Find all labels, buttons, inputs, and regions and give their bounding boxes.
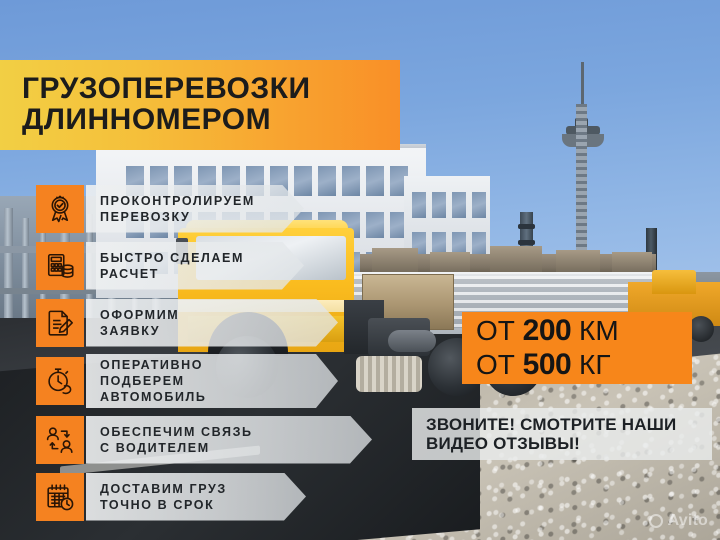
two-people-arrows-icon xyxy=(36,416,84,464)
feature-banner: ОФОРМИМ ЗАЯВКУ xyxy=(86,299,338,347)
feature-item-control-shipment: ПРОКОНТРОЛИРУЕМ ПЕРЕВОЗКУ xyxy=(36,181,376,236)
document-pen-icon xyxy=(36,299,84,347)
cta-line-1: ЗВОНИТЕ! СМОТРИТЕ НАШИ xyxy=(426,415,712,434)
feature-banner: БЫСТРО СДЕЛАЕМ РАСЧЕТ xyxy=(86,242,304,290)
feature-label: ОФОРМИМ ЗАЯВКУ xyxy=(100,307,179,339)
feature-banner: ОПЕРАТИВНО ПОДБЕРЕМ АВТОМОБИЛЬ xyxy=(86,354,338,408)
calendar-clock-icon xyxy=(36,473,84,521)
feature-label: ОБЕСПЕЧИМ СВЯЗЬ С ВОДИТЕЛЕМ xyxy=(100,424,253,456)
calculator-coins-icon xyxy=(36,242,84,290)
headline-banner: ГРУЗОПЕРЕВОЗКИ ДЛИННОМЕРОМ xyxy=(0,60,400,150)
cta-line-2: ВИДЕО ОТЗЫВЫ! xyxy=(426,434,712,453)
badge-weight-value: 500 xyxy=(523,348,572,381)
second-truck-cab xyxy=(652,270,696,294)
avito-watermark-text: Avito xyxy=(668,512,708,530)
badge-distance-value: 200 xyxy=(523,314,572,347)
feature-banner: ДОСТАВИМ ГРУЗ ТОЧНО В СРОК xyxy=(86,473,306,521)
award-rosette-icon xyxy=(36,185,84,233)
badge-weight-line: ОТ 500 КГ xyxy=(476,348,692,382)
badge-distance-unit: КМ xyxy=(579,315,619,346)
feature-label: ПРОКОНТРОЛИРУЕМ ПЕРЕВОЗКУ xyxy=(100,193,255,225)
feature-item-fast-quote: БЫСТРО СДЕЛАЕМ РАСЧЕТ xyxy=(36,238,376,293)
feature-item-on-time-delivery: ДОСТАВИМ ГРУЗ ТОЧНО В СРОК xyxy=(36,469,376,524)
feature-item-quick-vehicle: ОПЕРАТИВНО ПОДБЕРЕМ АВТОМОБИЛЬ xyxy=(36,352,376,410)
feature-label: ДОСТАВИМ ГРУЗ ТОЧНО В СРОК xyxy=(100,481,227,513)
minimum-order-badge: ОТ 200 КМ ОТ 500 КГ xyxy=(462,312,692,384)
feature-item-process-request: ОФОРМИМ ЗАЯВКУ xyxy=(36,295,376,350)
advertisement-banner: ГРУЗОПЕРЕВОЗКИ ДЛИННОМЕРОМ ПРОКОНТРОЛИРУ… xyxy=(0,0,720,540)
feature-list: ПРОКОНТРОЛИРУЕМ ПЕРЕВОЗКУ xyxy=(36,181,376,524)
avito-logo-icon xyxy=(649,514,663,528)
headline-line-2: ДЛИННОМЕРОМ xyxy=(22,105,400,136)
feature-item-driver-contact: ОБЕСПЕЧИМ СВЯЗЬ С ВОДИТЕЛЕМ xyxy=(36,412,376,467)
badge-distance-prefix: ОТ xyxy=(476,315,515,346)
stopwatch-hand-icon xyxy=(36,357,84,405)
fuel-tank xyxy=(388,330,436,352)
feature-label: БЫСТРО СДЕЛАЕМ РАСЧЕТ xyxy=(100,250,244,282)
headline-line-1: ГРУЗОПЕРЕВОЗКИ xyxy=(22,74,400,105)
call-to-action: ЗВОНИТЕ! СМОТРИТЕ НАШИ ВИДЕО ОТЗЫВЫ! xyxy=(412,408,712,460)
feature-label: ОПЕРАТИВНО ПОДБЕРЕМ АВТОМОБИЛЬ xyxy=(100,357,207,405)
badge-weight-unit: КГ xyxy=(579,349,610,380)
badge-distance-line: ОТ 200 КМ xyxy=(476,314,692,348)
feature-banner: ПРОКОНТРОЛИРУЕМ ПЕРЕВОЗКУ xyxy=(86,185,304,233)
avito-watermark: Avito xyxy=(649,512,708,530)
feature-banner: ОБЕСПЕЧИМ СВЯЗЬ С ВОДИТЕЛЕМ xyxy=(86,416,372,464)
badge-weight-prefix: ОТ xyxy=(476,349,515,380)
